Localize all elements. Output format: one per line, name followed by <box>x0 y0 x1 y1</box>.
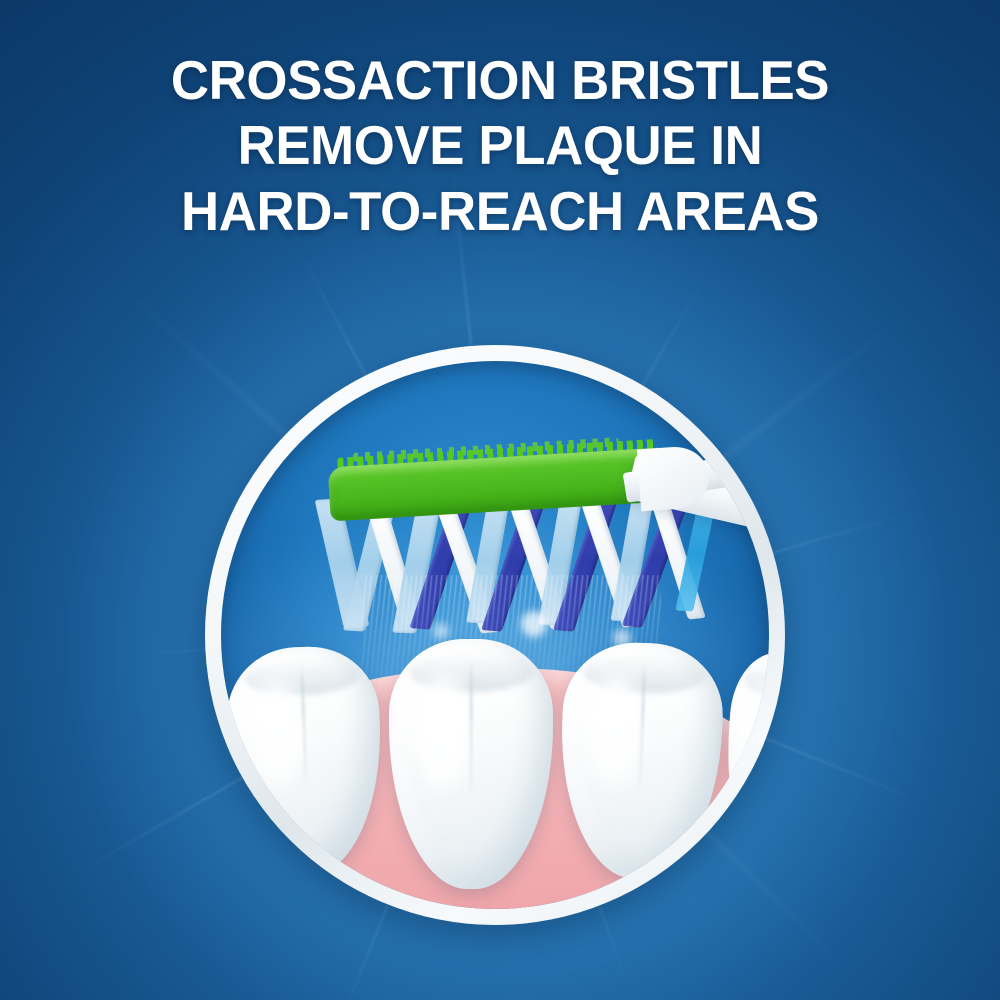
circle-inner-scene <box>221 361 769 909</box>
sparkle <box>521 611 547 637</box>
illustration-circle <box>205 345 785 925</box>
headline-line-2: REMOVE PLAQUE IN <box>20 113 980 178</box>
sparkle <box>613 629 631 647</box>
sparkle <box>433 623 449 639</box>
headline: CROSSACTION BRISTLES REMOVE PLAQUE IN HA… <box>20 48 980 244</box>
headline-line-3: HARD-TO-REACH AREAS <box>20 179 980 244</box>
promo-image-canvas: CROSSACTION BRISTLES REMOVE PLAQUE IN HA… <box>0 0 1000 1000</box>
toothbrush <box>221 361 769 909</box>
headline-line-1: CROSSACTION BRISTLES <box>20 48 980 113</box>
